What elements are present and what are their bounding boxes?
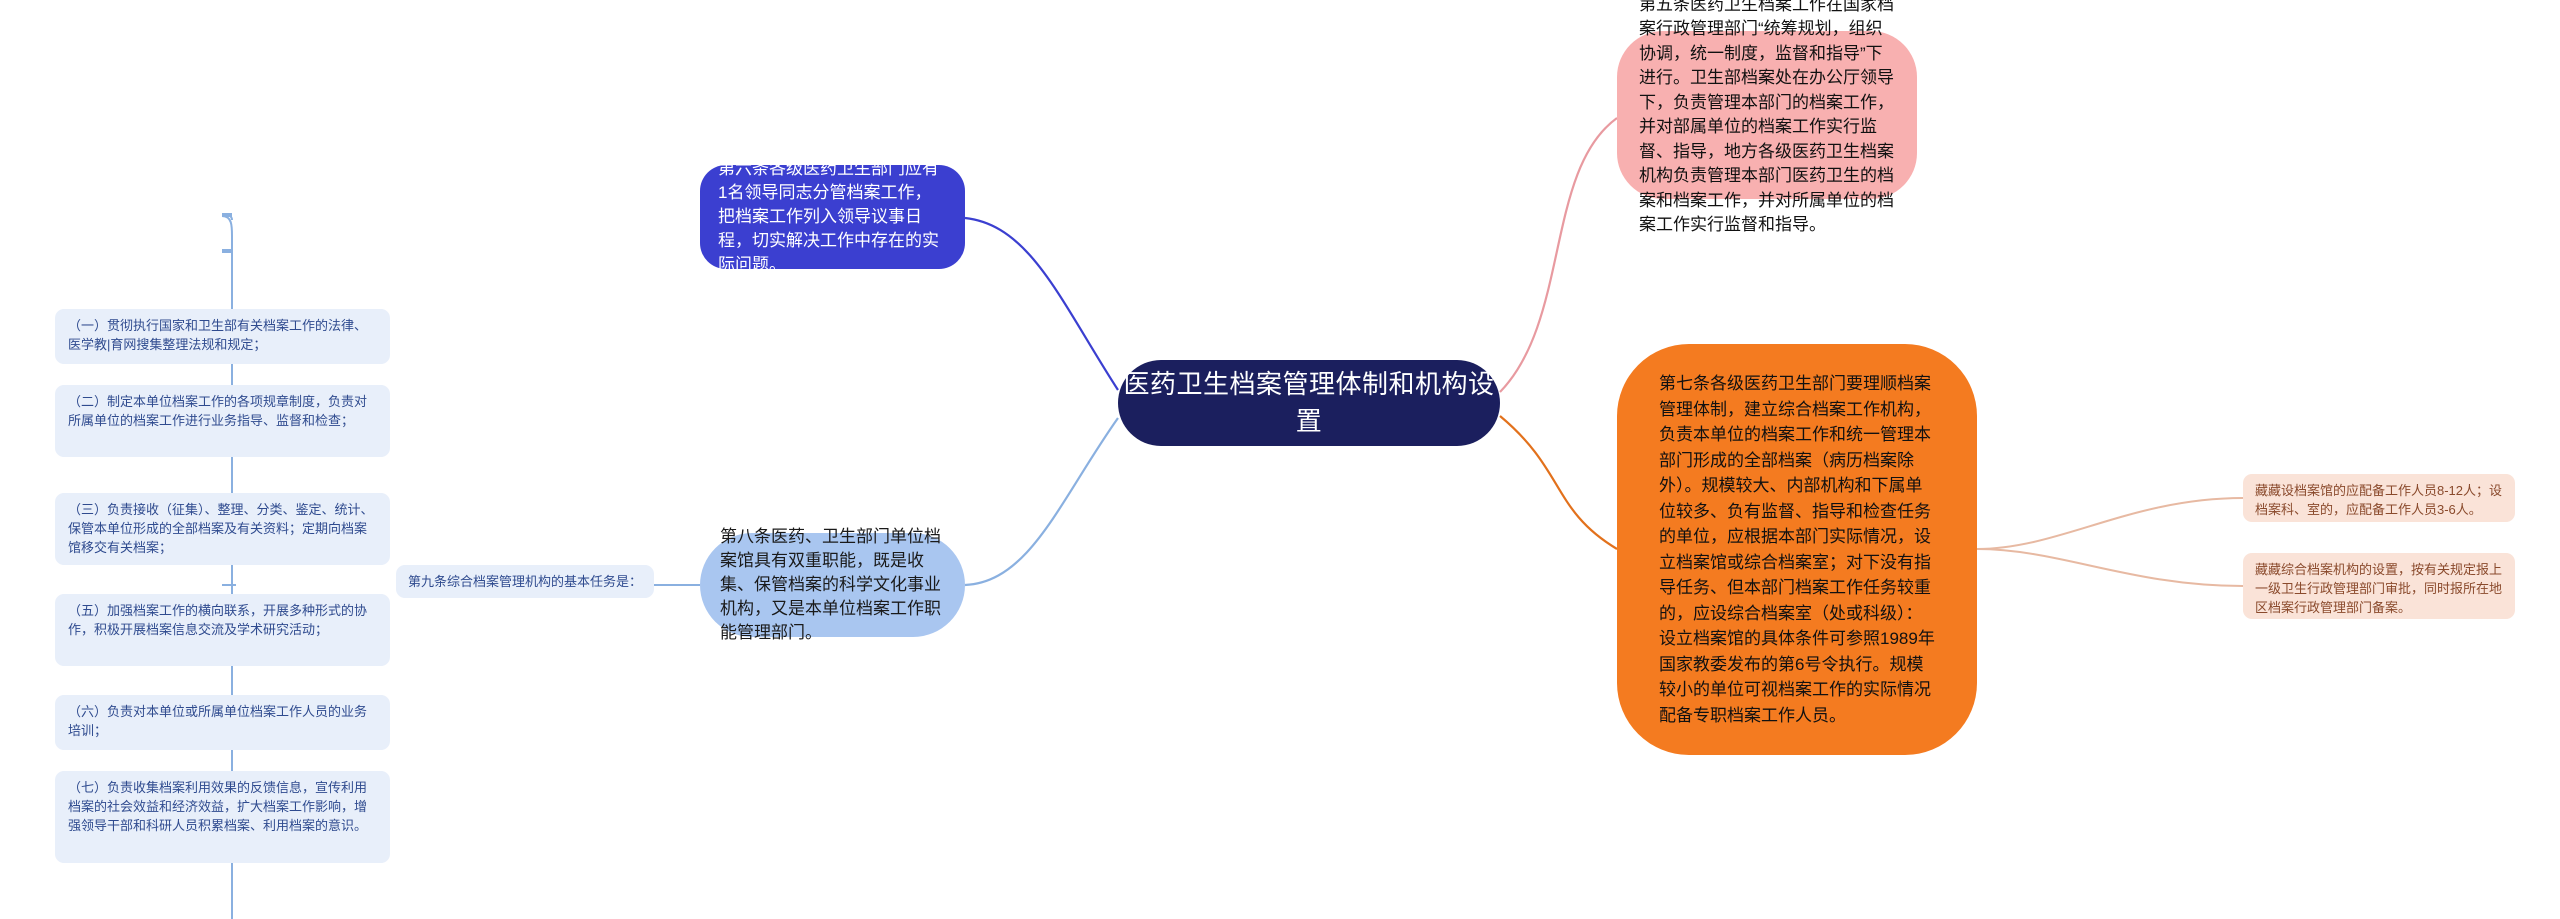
root-node[interactable]: 医药卫生档案管理体制和机构设置 [1118, 360, 1500, 446]
leaf-task-7[interactable]: （七）负责收集档案利用效果的反馈信息，宣传利用档案的社会效益和经济效益，扩大档案… [55, 771, 390, 863]
node-article-5[interactable]: 第五条医药卫生档案工作在国家档案行政管理部门“统筹规划，组织协调，统一制度，监督… [1617, 31, 1917, 199]
connector-article7-to-note-staffing [1977, 498, 2243, 549]
note-approval-label: 藏藏综合档案机构的设置，按有关规定报上一级卫生行政管理部门审批，同时报所在地区档… [2255, 562, 2502, 615]
leaf-task-1-label: （一）贯彻执行国家和卫生部有关档案工作的法律、医学教|育网搜集整理法规和规定； [68, 318, 367, 352]
mindmap-canvas: 医药卫生档案管理体制和机构设置 第六条各级医药卫生部门应有1名领导同志分管档案工… [0, 0, 2560, 919]
connector-root-to-article6 [965, 218, 1118, 390]
connector-article7-to-note-approval [1977, 549, 2243, 586]
root-node-label: 医药卫生档案管理体制和机构设置 [1118, 366, 1500, 440]
connector-root-to-article7 [1500, 416, 1617, 549]
connector-root-to-article5 [1500, 118, 1617, 392]
note-staffing-label: 藏藏设档案馆的应配备工作人员8-12人；设档案科、室的，应配备工作人员3-6人。 [2255, 483, 2502, 517]
leaf-task-2[interactable]: （二）制定本单位档案工作的各项规章制度，负责对所属单位的档案工作进行业务指导、监… [55, 385, 390, 457]
leaf-task-2-label: （二）制定本单位档案工作的各项规章制度，负责对所属单位的档案工作进行业务指导、监… [68, 394, 367, 428]
leaf-task-1[interactable]: （一）贯彻执行国家和卫生部有关档案工作的法律、医学教|育网搜集整理法规和规定； [55, 309, 390, 364]
leaf-task-7-label: （七）负责收集档案利用效果的反馈信息，宣传利用档案的社会效益和经济效益，扩大档案… [68, 780, 367, 833]
leaf-task-3[interactable]: （三）负责接收（征集）、整理、分类、鉴定、统计、保管本单位形成的全部档案及有关资… [55, 493, 390, 565]
leaf-task-6-label: （六）负责对本单位或所属单位档案工作人员的业务培训； [68, 704, 367, 738]
group-label-article-9-text: 第九条综合档案管理机构的基本任务是： [408, 574, 642, 589]
leaf-task-6[interactable]: （六）负责对本单位或所属单位档案工作人员的业务培训； [55, 695, 390, 750]
group-label-article-9[interactable]: 第九条综合档案管理机构的基本任务是： [396, 565, 654, 598]
connector-leaf-1 [222, 214, 232, 220]
leaf-task-3-label: （三）负责接收（征集）、整理、分类、鉴定、统计、保管本单位形成的全部档案及有关资… [68, 502, 374, 555]
note-staffing[interactable]: 藏藏设档案馆的应配备工作人员8-12人；设档案科、室的，应配备工作人员3-6人。 [2243, 474, 2515, 522]
node-article-7-label: 第七条各级医药卫生部门要理顺档案管理体制，建立综合档案工作机构，负责本单位的档案… [1659, 371, 1935, 728]
node-article-6-label: 第六条各级医药卫生部门应有1名领导同志分管档案工作，把档案工作列入领导议事日程，… [718, 157, 947, 277]
leaf-task-5[interactable]: （五）加强档案工作的横向联系，开展多种形式的协作，积极开展档案信息交流及学术研究… [55, 594, 390, 666]
connector-root-to-article8 [965, 418, 1118, 585]
node-article-5-label: 第五条医药卫生档案工作在国家档案行政管理部门“统筹规划，组织协调，统一制度，监督… [1639, 0, 1895, 238]
note-approval[interactable]: 藏藏综合档案机构的设置，按有关规定报上一级卫生行政管理部门审批，同时报所在地区档… [2243, 553, 2515, 619]
node-article-8[interactable]: 第八条医药、卫生部门单位档案馆具有双重职能，既是收集、保管档案的科学文化事业机构… [700, 533, 965, 637]
node-article-7[interactable]: 第七条各级医药卫生部门要理顺档案管理体制，建立综合档案工作机构，负责本单位的档案… [1617, 344, 1977, 755]
node-article-8-label: 第八条医药、卫生部门单位档案馆具有双重职能，既是收集、保管档案的科学文化事业机构… [720, 525, 945, 645]
leaf-task-5-label: （五）加强档案工作的横向联系，开展多种形式的协作，积极开展档案信息交流及学术研究… [68, 603, 367, 637]
node-article-6[interactable]: 第六条各级医药卫生部门应有1名领导同志分管档案工作，把档案工作列入领导议事日程，… [700, 165, 965, 269]
